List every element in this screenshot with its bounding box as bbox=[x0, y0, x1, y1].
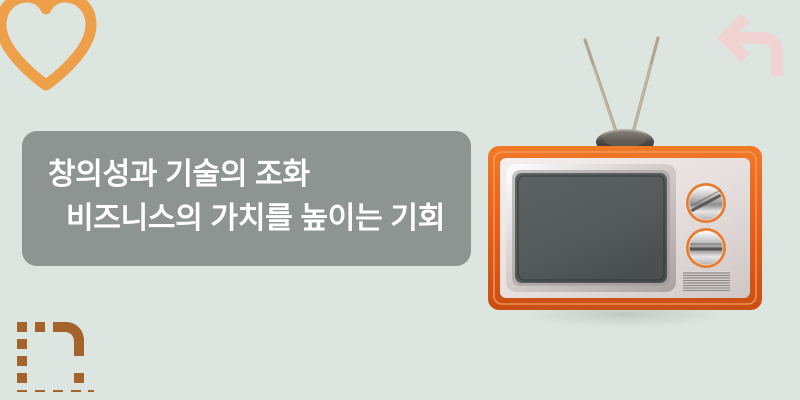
tv-antenna bbox=[585, 38, 658, 155]
headline-line-1: 창의성과 기술의 조화 bbox=[48, 153, 445, 197]
dashed-square-corner-icon bbox=[14, 306, 94, 392]
retro-television-illustration bbox=[480, 22, 770, 352]
heart-outline-icon bbox=[0, 0, 105, 92]
tv-speaker-grille bbox=[683, 271, 730, 292]
tv-screen bbox=[515, 173, 667, 283]
headline-plaque: 창의성과 기술의 조화 비즈니스의 가치를 높이는 기회 bbox=[22, 131, 471, 266]
tv-frame bbox=[488, 146, 762, 310]
tv-knob-upper bbox=[686, 183, 726, 223]
tv-shadow bbox=[507, 298, 743, 330]
tv-body bbox=[500, 158, 750, 298]
tv-screen-bezel bbox=[506, 164, 676, 292]
tv-knob-lower bbox=[686, 228, 726, 268]
headline-line-2: 비즈니스의 가치를 높이는 기회 bbox=[48, 197, 445, 241]
banner-canvas: 창의성과 기술의 조화 비즈니스의 가치를 높이는 기회 bbox=[0, 0, 800, 400]
reply-arrow-icon bbox=[714, 4, 796, 80]
